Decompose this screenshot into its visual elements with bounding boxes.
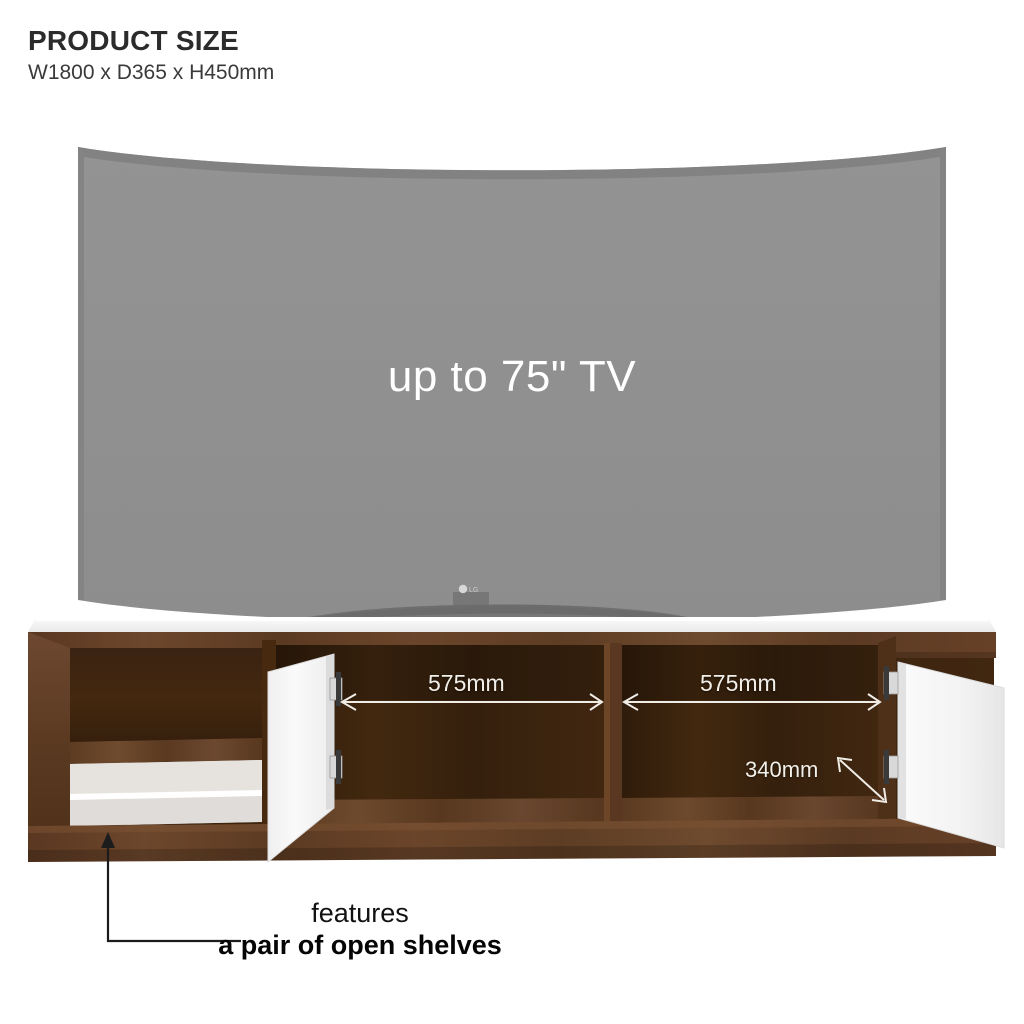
cabinet-right-side-panel <box>878 636 896 834</box>
cabinet-center-divider-edge <box>604 643 610 828</box>
right-door-edge-shadow <box>898 662 906 819</box>
dimension-label-right-bay: 575mm <box>700 670 777 697</box>
cabinet-left-side-panel <box>28 632 70 845</box>
caption-line-open-shelves: a pair of open shelves <box>150 930 570 960</box>
dimension-label-left-bay: 575mm <box>428 670 505 697</box>
left-door-edge-shadow <box>326 654 334 810</box>
cabinet-top-surface-edge <box>36 617 988 621</box>
open-shelf-lower-back-shade <box>70 760 262 794</box>
product-size-diagram: PRODUCT SIZE W1800 x D365 x H450mm <box>0 0 1024 1024</box>
open-shelf-upper-floor <box>70 738 262 764</box>
right-cabinet-door[interactable] <box>898 662 1004 848</box>
open-shelf-lower-floor-shade <box>70 796 262 826</box>
cabinet-svg <box>0 0 1024 1024</box>
tv-cabinet-illustration: 575mm 575mm 340mm <box>0 0 1024 1024</box>
dimension-label-depth: 340mm <box>745 757 818 783</box>
right-door-panel[interactable] <box>898 662 1004 848</box>
feature-caption: features a pair of open shelves <box>150 898 570 960</box>
caption-line-features: features <box>150 898 570 928</box>
